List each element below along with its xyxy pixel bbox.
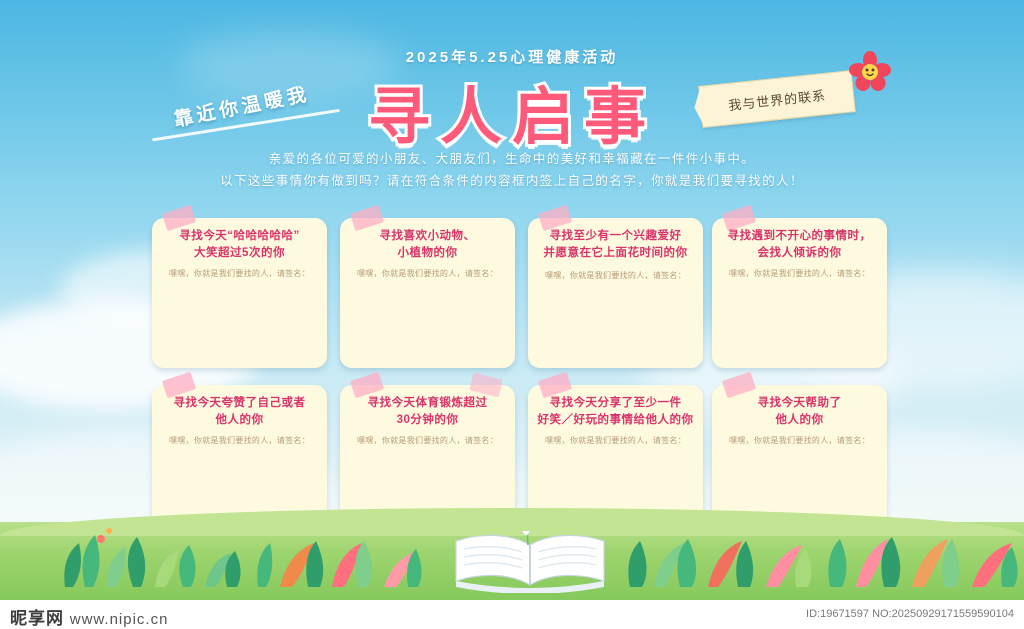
card-hint: 嘿嘿，你就是我们要找的人，请签名： [722,268,877,279]
signature-card[interactable]: 寻找喜欢小动物、 小植物的你 嘿嘿，你就是我们要找的人，请签名： [340,218,515,368]
open-book-illustration [440,531,620,593]
card-title: 寻找今天体育锻炼超过 30分钟的你 [348,395,507,429]
card-hint: 嘿嘿，你就是我们要找的人，请签名： [162,435,317,446]
card-hint: 嘿嘿，你就是我们要找的人，请签名： [162,268,317,279]
plant-left-leaves [55,517,255,587]
intro-line-1: 亲爱的各位可爱的小朋友、大朋友们，生命中的美好和幸福藏在一件件小事中。 [0,148,1024,170]
intro-description: 亲爱的各位可爱的小朋友、大朋友们，生命中的美好和幸福藏在一件件小事中。 以下这些… [0,148,1024,192]
card-hint: 嘿嘿，你就是我们要找的人，请签名： [538,435,693,446]
card-hint: 嘿嘿，你就是我们要找的人，请签名： [722,435,877,446]
intro-line-2: 以下这些事情你有做到吗？请在符合条件的内容框内签上自己的名字，你就是我们要寻找的… [0,170,1024,192]
card-title: 寻找今天“哈哈哈哈哈” 大笑超过5次的你 [160,228,319,262]
card-title: 寻找今天分享了至少一件 好笑／好玩的事情给他人的你 [536,395,695,429]
plant-far-right [820,507,1020,587]
signature-card[interactable]: 寻找遇到不开心的事情时， 会找人倾诉的你 嘿嘿，你就是我们要找的人，请签名： [712,218,887,368]
signature-card[interactable]: 寻找今天“哈哈哈哈哈” 大笑超过5次的你 嘿嘿，你就是我们要找的人，请签名： [152,218,327,368]
card-hint: 嘿嘿，你就是我们要找的人，请签名： [350,268,505,279]
plant-left-flowers [250,511,430,587]
page-title: 寻人启事 [368,66,656,156]
signature-card[interactable]: 寻找至少有一个兴趣爱好 并愿意在它上面花时间的你 嘿嘿，你就是我们要找的人，请签… [528,218,703,368]
flower-icon [846,48,894,96]
card-title: 寻找今天帮助了 他人的你 [720,395,879,429]
image-id-label: ID:19671597 NO:20250929171559590104 [806,608,1014,620]
card-title: 寻找今天夸赞了自己或者 他人的你 [160,395,319,429]
watermark-brand: 昵享网 [10,609,64,628]
plant-right-flowers [620,511,820,587]
poster-root: 2025年5.25心理健康活动 寻人启事 靠近你温暖我 我与世界的联系 亲爱的各… [0,0,1024,629]
side-tag-label: 我与世界的联系 [700,82,853,117]
card-title: 寻找喜欢小动物、 小植物的你 [348,228,507,262]
card-hint: 嘿嘿，你就是我们要找的人，请签名： [538,270,693,281]
watermark-url: www.nipic.cn [70,611,169,628]
footer-bar: 昵享网 www.nipic.cn ID:19671597 NO:20250929… [0,600,1024,629]
card-hint: 嘿嘿，你就是我们要找的人，请签名： [350,435,505,446]
card-title: 寻找至少有一个兴趣爱好 并愿意在它上面花时间的你 [536,228,695,262]
card-title: 寻找遇到不开心的事情时， 会找人倾诉的你 [720,228,879,262]
watermark: 昵享网 www.nipic.cn [10,604,168,629]
